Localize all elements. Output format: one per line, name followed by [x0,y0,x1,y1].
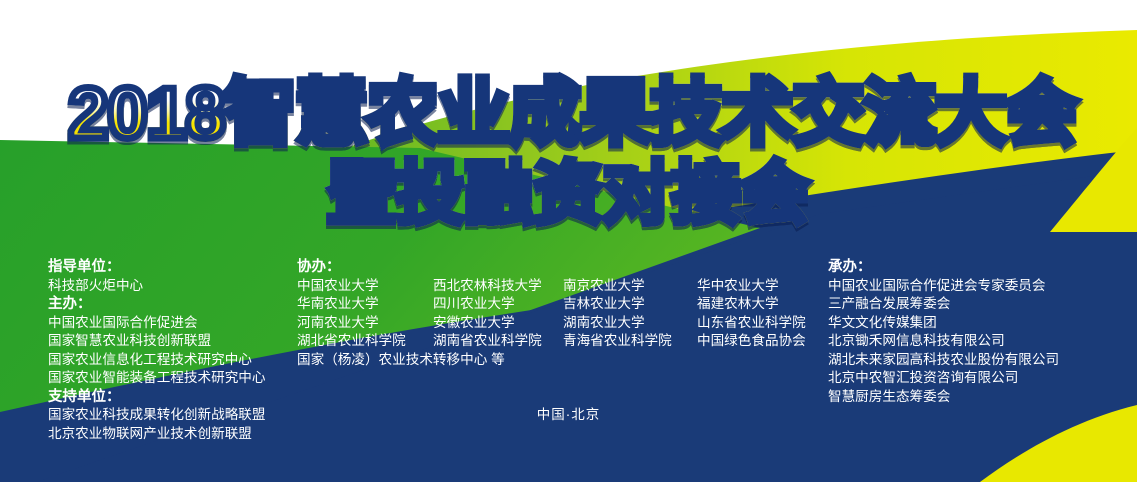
coorganizer-item: 山东省农业科学院 [697,314,817,333]
organizer-item: 国家智慧农业科技创新联盟 [48,332,298,351]
coorganizer-item: 湖南省农业科学院 [433,332,563,351]
coorganizer-item: 南京农业大学 [563,277,697,296]
organizer-item: 国家农业信息化工程技术研究中心 [48,351,298,370]
coorganizer-item: 华中农业大学 [697,277,817,296]
coorganizer-item: 湖北省农业科学院 [297,332,433,351]
organizer-item: 中国农业国际合作促进会 [48,314,298,333]
organization-columns: 指导单位： 科技部火炬中心 主办： 中国农业国际合作促进会 国家智慧农业科技创新… [0,258,1137,458]
coorganizer-item: 福建农林大学 [697,295,817,314]
coorganizer-item: 安徽农业大学 [433,314,563,333]
host-item: 华文文化传媒集团 [828,314,1128,333]
guide-item: 科技部火炬中心 [48,277,298,296]
host-item: 三产融合发展筹委会 [828,295,1128,314]
coorganizer-item: 青海省农业科学院 [563,332,697,351]
coorganizer-item: 吉林农业大学 [563,295,697,314]
host-item: 北京锄禾网信息科技有限公司 [828,332,1128,351]
coorganizer-item: 四川农业大学 [433,295,563,314]
column-coorganizers: 协办： 中国农业大学 西北农林科技大学 南京农业大学 华中农业大学 华南农业大学… [297,258,817,369]
coorganizer-item: 河南农业大学 [297,314,433,333]
conference-banner: 2018智慧农业成果技术交流大会 暨投融资对接会 指导单位： 科技部火炬中心 主… [0,0,1137,482]
column-hosts: 承办： 中国农业国际合作促进会专家委员会 三产融合发展筹委会 华文文化传媒集团 … [828,258,1128,406]
host-label: 承办： [828,258,1128,277]
coorganizer-item: 湖南农业大学 [563,314,697,333]
coorganizer-item-last: 国家（杨凌）农业技术转移中心 等 [297,351,817,370]
supporter-item: 北京农业物联网产业技术创新联盟 [48,425,298,444]
coorganizer-item: 华南农业大学 [297,295,433,314]
organizer-item: 国家农业智能装备工程技术研究中心 [48,369,298,388]
host-item: 湖北未来家园高科技农业股份有限公司 [828,351,1128,370]
location-text: 中国·北京 [0,406,1137,424]
organizer-label: 主办： [48,295,298,314]
coorganizer-item: 中国绿色食品协会 [697,332,817,351]
coorganizer-grid: 中国农业大学 西北农林科技大学 南京农业大学 华中农业大学 华南农业大学 四川农… [297,277,817,370]
coorganizer-item: 西北农林科技大学 [433,277,563,296]
host-item: 北京中农智汇投资咨询有限公司 [828,369,1128,388]
host-item: 智慧厨房生态筹委会 [828,388,1128,407]
coorganizer-item: 中国农业大学 [297,277,433,296]
coorganizer-label: 协办： [297,258,817,277]
host-item: 中国农业国际合作促进会专家委员会 [828,277,1128,296]
supporter-label: 支持单位： [48,388,298,407]
guide-label: 指导单位： [48,258,298,277]
